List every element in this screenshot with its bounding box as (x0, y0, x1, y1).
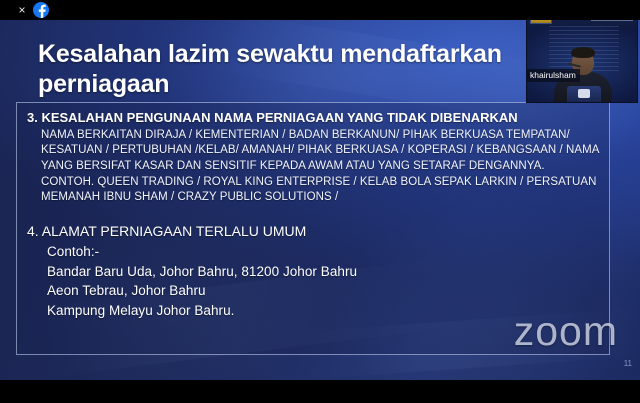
block-4-line: Contoh:- (47, 242, 599, 262)
block-3-lines: NAMA BERKAITAN DIRAJA / KEMENTERIAN / BA… (41, 128, 599, 206)
zoom-watermark: zoom (514, 311, 618, 352)
participant-name-label: khairulsham (527, 69, 580, 82)
block-3-heading: 3. KESALAHAN PENGUNAAN NAMA PERNIAGAAN Y… (27, 110, 599, 126)
block-3-line: CONTOH. QUEEN TRADING / ROYAL KING ENTER… (41, 175, 599, 191)
video-feed (527, 14, 637, 102)
close-icon[interactable]: × (14, 2, 30, 18)
bottom-bar (0, 380, 640, 403)
facebook-icon[interactable] (33, 2, 49, 18)
block-3-line: YANG BERSIFAT KASAR DAN SENSITIF KEPADA … (41, 159, 599, 175)
slide-title: Kesalahan lazim sewaktu mendaftarkan per… (38, 40, 538, 99)
block-4-heading: 4. ALAMAT PERNIAGAAN TERLALU UMUM (27, 223, 599, 240)
podium-emblem (578, 89, 590, 98)
content-block-4: 4. ALAMAT PERNIAGAAN TERLALU UMUM Contoh… (27, 223, 599, 320)
participant-video-tile[interactable]: khairulsham (526, 13, 638, 103)
zoom-screen-share-view: × Kesalahan lazim sewaktu mendaftarkan p… (0, 0, 640, 403)
block-3-line: KESATUAN / PERTUBUHAN /KELAB/ AMANAH/ PI… (41, 143, 599, 159)
slide-page-number: 11 (624, 360, 632, 368)
block-3-line: NAMA BERKAITAN DIRAJA / KEMENTERIAN / BA… (41, 128, 599, 144)
block-4-line: Aeon Tebrau, Johor Bahru (47, 281, 599, 301)
block-4-line: Bandar Baru Uda, Johor Bahru, 81200 Joho… (47, 262, 599, 282)
content-block-3: 3. KESALAHAN PENGUNAAN NAMA PERNIAGAAN Y… (27, 110, 599, 206)
speaker-hair (571, 47, 595, 58)
top-app-bar: × (0, 0, 640, 20)
block-3-line: MEMANAH IBNU SHAM / CRAZY PUBLIC SOLUTIO… (41, 190, 599, 206)
